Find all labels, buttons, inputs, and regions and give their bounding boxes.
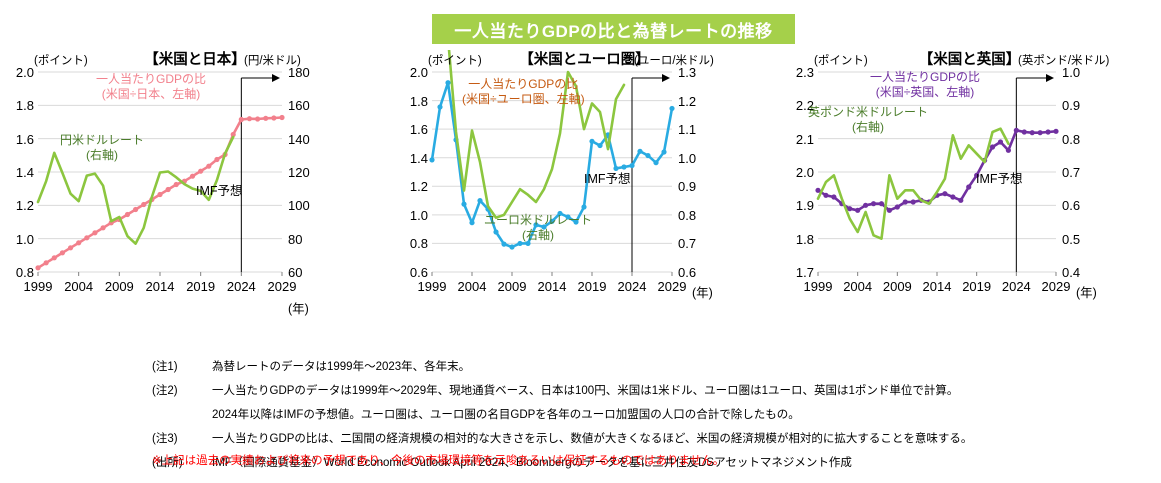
imf-forecast-label: IMF予想 [584,168,631,187]
x-axis-tick-label: 2029 [258,280,306,293]
legend-gdp-ratio-line1: 一人当たりGDPの比 [870,70,980,85]
footnote-tag: (注2) [0,386,212,398]
y2-axis-tick-label: 0.6 [678,266,718,279]
series-marker [157,192,162,197]
y-axis-tick-label: 2.3 [780,66,814,79]
legend-fx-rate-line2: (右軸) [484,228,592,243]
series-marker [1014,128,1019,133]
series-marker [133,207,138,212]
y-axis-tick-label: 0.6 [394,266,428,279]
legend-fx-rate-line1: 円米ドルレート [60,133,144,148]
y-axis-tick-label: 1.8 [780,233,814,246]
series-marker [581,204,586,209]
series-marker [263,116,268,121]
y-axis-tick-label: 1.9 [780,199,814,212]
series-marker [990,144,995,149]
series-marker [645,153,650,158]
chart-panel-japan: 【米国と日本】 (ポイント)(円/米ドル)0.81.01.21.41.61.82… [0,50,390,345]
legend-gdp-ratio: 一人当たりGDPの比(米国÷ユーロ圏、左軸) [462,77,585,107]
footnote-text: 2024年以降はIMFの予想値。ユーロ圏は、ユーロ圏の名目GDPを各年のユーロ加… [212,410,1161,422]
series-marker [637,149,642,154]
y2-axis-tick-label: 0.6 [1062,199,1102,212]
y-axis-tick-label: 1.0 [0,233,34,246]
legend-gdp-ratio: 一人当たりGDPの比(米国÷日本、左軸) [96,72,206,102]
legend-gdp-ratio-line2: (米国÷ユーロ圏、左軸) [462,92,585,107]
y-axis-tick-label: 1.7 [780,266,814,279]
series-marker [863,203,868,208]
y2-axis-tick-label: 100 [288,199,328,212]
series-marker [895,204,900,209]
legend-fx-rate-line1: ユーロ米ドルレート [484,213,592,228]
footnote-text: 一人当たりGDPの比は、二国間の経済規模の相対的な大きさを示し、数値が大きくなる… [212,434,1161,446]
legend-fx-rate-line1: 英ポンド米ドルレート [808,105,928,120]
legend-fx-rate: 円米ドルレート(右軸) [60,133,144,163]
footnote-row: (注1)為替レートのデータは1999年～2023年、各年末。 [0,356,1161,380]
y-axis-tick-label: 1.4 [0,166,34,179]
series-marker [279,115,284,120]
series-marker [141,202,146,207]
series-marker [247,116,252,121]
y2-axis-tick-label: 160 [288,99,328,112]
y2-axis-tick-label: 1.1 [678,123,718,136]
series-marker [461,202,466,207]
series-marker [35,265,40,270]
series-marker [125,212,130,217]
series-marker [831,194,836,199]
series-marker [653,160,658,165]
x-axis-tick-label: 2029 [1032,280,1080,293]
y-axis-tick-label: 2.0 [394,66,428,79]
forecast-arrow-head [1046,74,1054,82]
series-marker [445,80,450,85]
series-marker [429,157,434,162]
y2-axis-tick-label: 180 [288,66,328,79]
series-marker [206,164,211,169]
series-marker [76,240,81,245]
series-marker [239,117,244,122]
x-axis-tick-label: 2029 [648,280,696,293]
y-axis-tick-label: 1.8 [0,99,34,112]
series-marker [823,193,828,198]
y2-axis-tick-label: 0.8 [1062,133,1102,146]
series-marker [174,182,179,187]
legend-gdp-ratio-line2: (米国÷英国、左軸) [870,85,980,100]
footnote-row: (注3)一人当たりGDPの比は、二国間の経済規模の相対的な大きさを示し、数値が大… [0,428,1161,452]
series-marker [589,139,594,144]
series-marker [847,206,852,211]
series-marker [84,235,89,240]
series-marker [661,149,666,154]
series-marker [166,187,171,192]
legend-gdp-ratio-line2: (米国÷日本、左軸) [96,87,206,102]
series-marker [1006,148,1011,153]
chart-panel-uk: 【米国と英国】 (ポイント)(英ポンド/米ドル)1.71.81.92.02.12… [778,50,1161,345]
series-marker [911,199,916,204]
y-axis-tick-label: 2.0 [0,66,34,79]
y-axis-tick-label: 1.2 [0,199,34,212]
imf-forecast-label: IMF予想 [196,180,243,199]
chart-panel-eurozone: 【米国とユーロ圏】 (ポイント)(ユーロ/米ドル)0.60.81.01.21.4… [392,50,777,345]
series-line [432,50,624,218]
y2-axis-tick-label: 60 [288,266,328,279]
footnote-row: (注2)2024年以降はIMFの予想値。ユーロ圏は、ユーロ圏の名目GDPを各年の… [0,404,1161,428]
series-marker [887,208,892,213]
y-axis-tick-label: 0.8 [0,266,34,279]
forecast-arrow-head [662,74,670,82]
left-axis-unit: (ポイント) [34,52,88,68]
series-marker [44,260,49,265]
series-marker [92,230,97,235]
y2-axis-tick-label: 1.0 [1062,66,1102,79]
series-marker [1030,130,1035,135]
infographic-page: 一人当たりGDPの比と為替レートの推移 【米国と日本】 (ポイント)(円/米ドル… [0,0,1161,483]
y-axis-tick-label: 1.6 [0,133,34,146]
series-marker [871,201,876,206]
series-marker [855,208,860,213]
series-marker [60,250,65,255]
series-marker [966,184,971,189]
series-marker [1038,130,1043,135]
y2-axis-tick-label: 140 [288,133,328,146]
legend-fx-rate: 英ポンド米ドルレート(右軸) [808,105,928,135]
footnote-tag: (注1) [0,362,212,374]
series-marker [255,116,260,121]
y2-axis-tick-label: 0.7 [678,237,718,250]
series-marker [597,143,602,148]
y2-axis-tick-label: 0.4 [1062,266,1102,279]
series-marker [469,220,474,225]
year-unit-label: (年) [288,298,309,317]
series-marker [998,139,1003,144]
y-axis-tick-label: 1.2 [394,180,428,193]
y-axis-tick-label: 2.0 [780,166,814,179]
series-marker [52,255,57,260]
series-marker [879,201,884,206]
footnote-text: 一人当たりGDPのデータは1999年～2029年、現地通貨ベース、日本は100円… [212,386,1161,398]
page-title: 一人当たりGDPの比と為替レートの推移 [454,17,772,42]
series-marker [198,169,203,174]
title-banner: 一人当たりGDPの比と為替レートの推移 [432,14,795,44]
legend-gdp-ratio-line1: 一人当たりGDPの比 [462,77,585,92]
y-axis-tick-label: 1.4 [394,152,428,165]
y2-axis-tick-label: 0.5 [1062,233,1102,246]
legend-gdp-ratio-line1: 一人当たりGDPの比 [96,72,206,87]
legend-fx-rate: ユーロ米ドルレート(右軸) [484,213,592,243]
footnote-text: 為替レートのデータは1999年～2023年、各年末。 [212,362,1161,374]
y2-axis-tick-label: 0.7 [1062,166,1102,179]
series-marker [903,199,908,204]
footnote-row: (注2)一人当たりGDPのデータは1999年～2029年、現地通貨ベース、日本は… [0,380,1161,404]
year-unit-label: (年) [692,282,713,301]
series-marker [190,174,195,179]
series-marker [68,245,73,250]
left-axis-unit: (ポイント) [428,52,482,68]
y2-axis-tick-label: 0.8 [678,209,718,222]
footnote-tag: (注3) [0,434,212,446]
y2-axis-tick-label: 1.2 [678,95,718,108]
series-marker [942,191,947,196]
forecast-arrow-head [272,74,280,82]
series-marker [958,198,963,203]
y2-axis-tick-label: 120 [288,166,328,179]
legend-gdp-ratio: 一人当たりGDPの比(米国÷英国、左軸) [870,70,980,100]
y-axis-tick-label: 1.6 [394,123,428,136]
series-marker [477,198,482,203]
y2-axis-tick-label: 1.0 [678,152,718,165]
series-marker [100,225,105,230]
series-marker [509,244,514,249]
series-marker [950,194,955,199]
series-marker [1053,129,1058,134]
series-marker [1045,129,1050,134]
series-marker [214,157,219,162]
y-axis-tick-label: 1.0 [394,209,428,222]
y-axis-tick-label: 1.8 [394,95,428,108]
series-marker [437,104,442,109]
y2-axis-tick-label: 0.9 [678,180,718,193]
disclaimer-text: ※上記は過去の実績および将来の予想であり、今後の市場環境等を示唆あるいは保証する… [152,452,724,468]
year-unit-label: (年) [1076,282,1097,301]
legend-fx-rate-line2: (右軸) [60,148,144,163]
series-marker [1022,129,1027,134]
y2-axis-tick-label: 1.3 [678,66,718,79]
legend-fx-rate-line2: (右軸) [808,120,928,135]
y2-axis-tick-label: 80 [288,233,328,246]
left-axis-unit: (ポイント) [814,52,868,68]
series-marker [669,106,674,111]
y2-axis-tick-label: 0.9 [1062,99,1102,112]
imf-forecast-label: IMF予想 [976,168,1023,187]
series-marker [271,115,276,120]
y-axis-tick-label: 0.8 [394,237,428,250]
